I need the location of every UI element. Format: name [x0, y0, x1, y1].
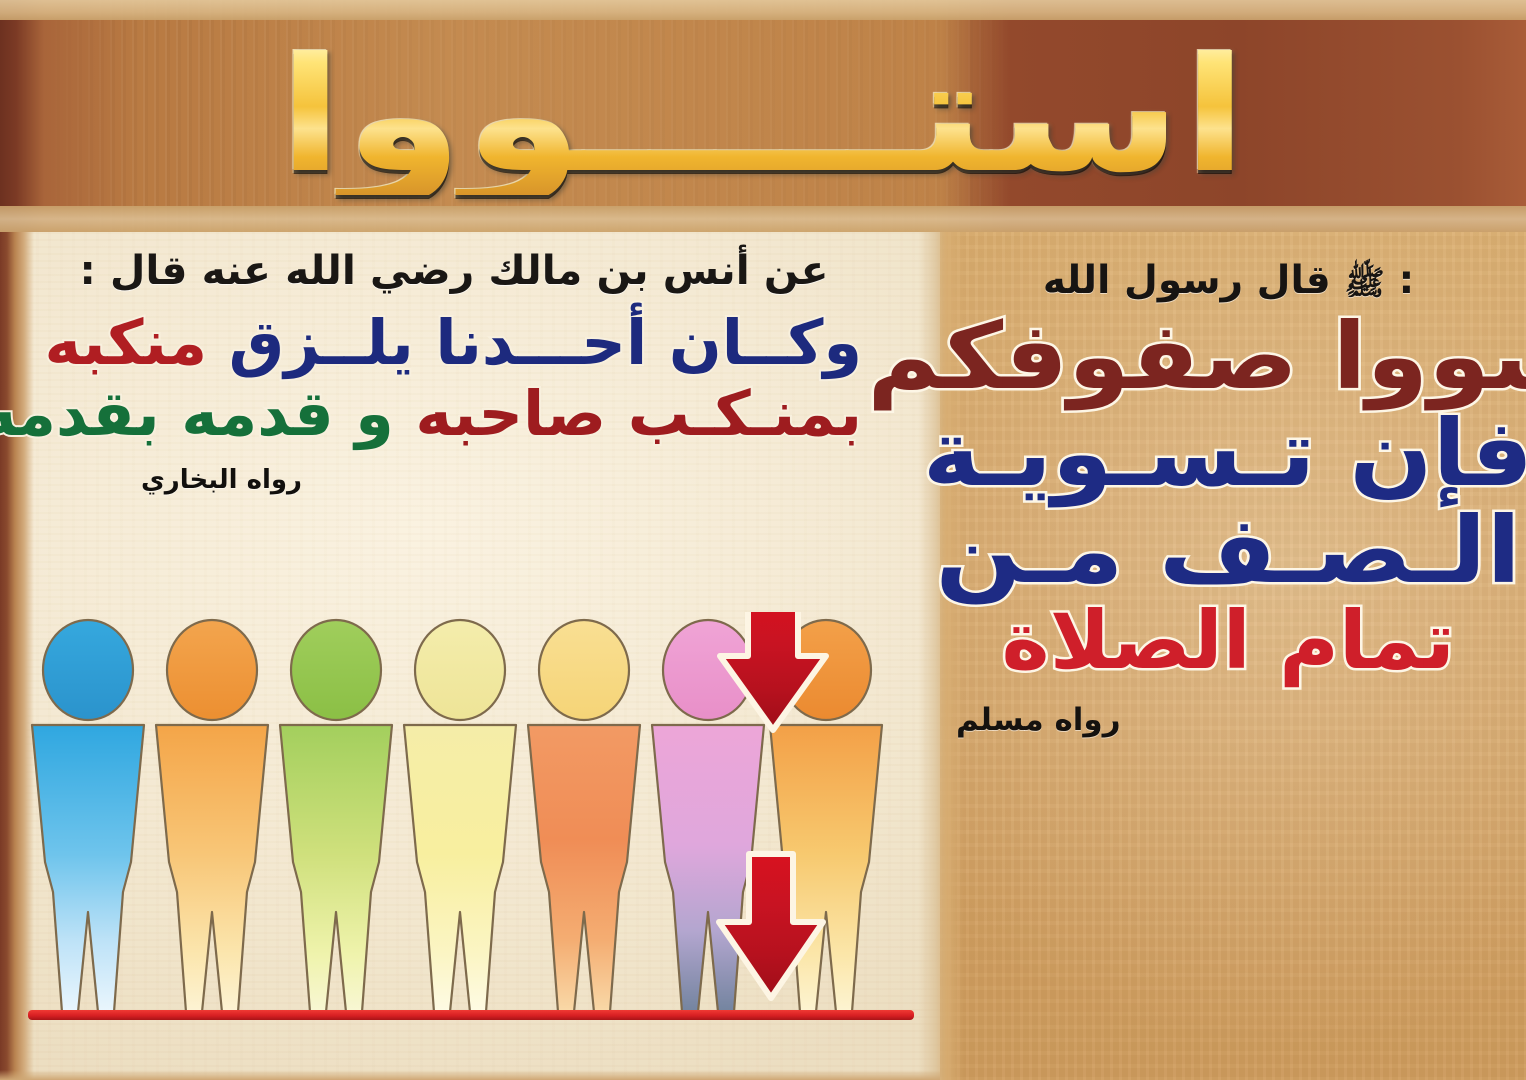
narration-seg-bimankib-sahibihi: بمنـكـب صاحبه — [415, 377, 862, 450]
hadith-line-4: تمام الصلاة — [1001, 600, 1454, 682]
sallallahu-alayhi-wasallam-icon: ﷺ — [1345, 266, 1385, 299]
narration-seg-waqadamahu: و قدمه — [181, 377, 394, 450]
narration-seg-biqadamihi: بقدمه — [0, 377, 160, 450]
hadith-text-block: : ﷺ قال رسول الله سووا صفوفكم فإن تـسـوي… — [930, 232, 1526, 1080]
figure-4-yellow — [404, 620, 516, 1012]
narration-intro-line: عن أنس بن مالك رضي الله عنه قال : — [38, 248, 870, 294]
figure-2-orange — [156, 620, 268, 1012]
figure-1-blue — [32, 620, 144, 1012]
poster-title: استـــــووا — [0, 10, 1526, 222]
poster-body: : ﷺ قال رسول الله سووا صفوفكم فإن تـسـوي… — [0, 232, 1526, 1080]
hadith-intro-line: : ﷺ قال رسول الله — [1043, 258, 1413, 303]
hadith-line-3: الـصـف مـن — [935, 504, 1521, 599]
hadith-intro-colon: : — [1399, 258, 1414, 303]
figure-3-green — [280, 620, 392, 1012]
narration-line-2: وكــان أحـــدنا يلــزق منكبه — [46, 308, 862, 377]
figure-5-peach — [528, 620, 640, 1012]
narration-text-block: عن أنس بن مالك رضي الله عنه قال : وكــان… — [0, 248, 908, 495]
hadith-line-2: فإن تـسـويـة — [923, 407, 1526, 502]
prayer-row-figures-svg — [26, 612, 916, 1060]
narration-seg-yulziq: يلــزق — [229, 306, 414, 379]
narration-line-3: بمنـكـب صاحبه و قدمه بقدمه — [46, 379, 862, 448]
narration-source-attribution: رواه البخاري — [46, 465, 862, 495]
poster-root: استـــــووا : ﷺ قال رسول الله سووا صفوفك… — [0, 0, 1526, 1080]
hadith-intro-prefix: قال رسول الله — [1043, 258, 1331, 303]
poster-title-text: استـــــووا — [241, 37, 1285, 195]
hadith-line-1: سووا صفوفكم — [867, 310, 1526, 405]
prayer-row-illustration — [26, 612, 916, 1060]
hadith-source-attribution: رواه مسلم — [956, 702, 1121, 738]
prayer-row-line — [28, 1010, 914, 1020]
narration-seg-mankibahu: منكبه — [45, 306, 208, 379]
narration-seg-wakana: وكــان أحـــدنا — [435, 306, 862, 379]
poster-bottom-edge-border — [0, 1070, 940, 1080]
